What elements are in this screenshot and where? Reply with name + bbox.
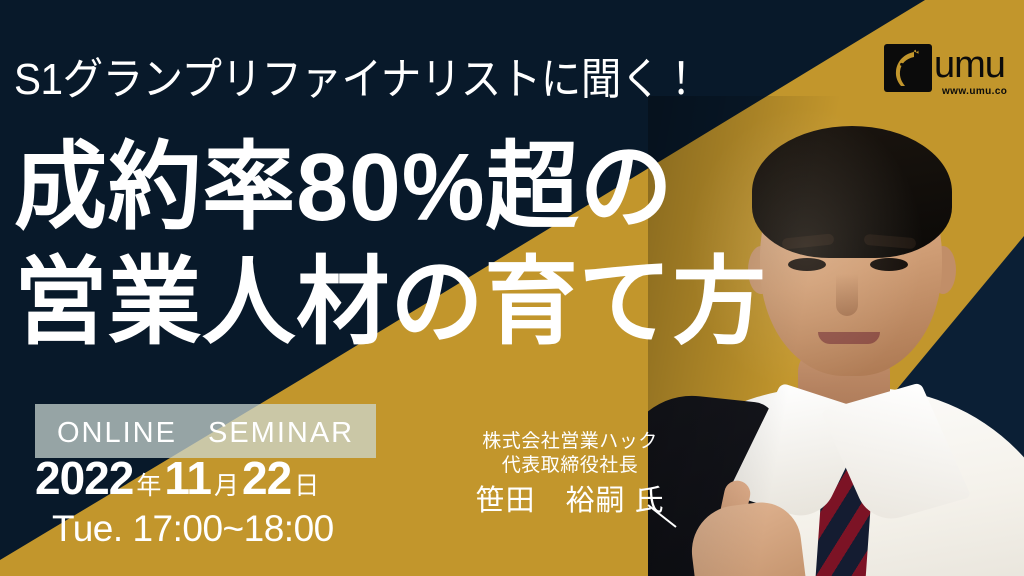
portrait-mouth (818, 332, 880, 344)
date-day-unit: 日 (291, 474, 322, 499)
umu-giraffe-mark-icon (884, 44, 932, 92)
umu-wordmark: umu (934, 46, 1005, 84)
portrait-eye-left (788, 258, 826, 271)
event-time: Tue. 17:00~18:00 (52, 510, 334, 547)
umu-logo: umu www.umu.co (884, 44, 1016, 98)
title-line-1: 成約率80%超の (14, 140, 674, 236)
date-month-unit: 月 (211, 474, 242, 499)
speaker-pointer-line (646, 503, 678, 529)
date-year-unit: 年 (133, 474, 164, 499)
portrait-hair (752, 126, 952, 258)
online-seminar-badge: ONLINE SEMINAR (35, 404, 376, 458)
date-year-number: 2022 (35, 455, 133, 501)
seminar-banner: S1グランプリファイナリストに聞く！ 成約率80%超の 営業人材の育て方 ONL… (0, 0, 1024, 576)
date-day-number: 22 (242, 455, 291, 501)
date-month-number: 11 (164, 455, 211, 501)
title-line-2: 営業人材の育て方 (14, 255, 767, 351)
umu-url: www.umu.co (942, 86, 1007, 97)
portrait-nose (836, 274, 858, 316)
headline: S1グランプリファイナリストに聞く！ (14, 58, 701, 102)
event-date: 2022 年 11 月 22 日 (35, 455, 322, 501)
speaker-company: 株式会社営業ハック (455, 430, 685, 454)
speaker-role: 代表取締役社長 (455, 454, 685, 478)
portrait-eye-right (870, 258, 908, 271)
